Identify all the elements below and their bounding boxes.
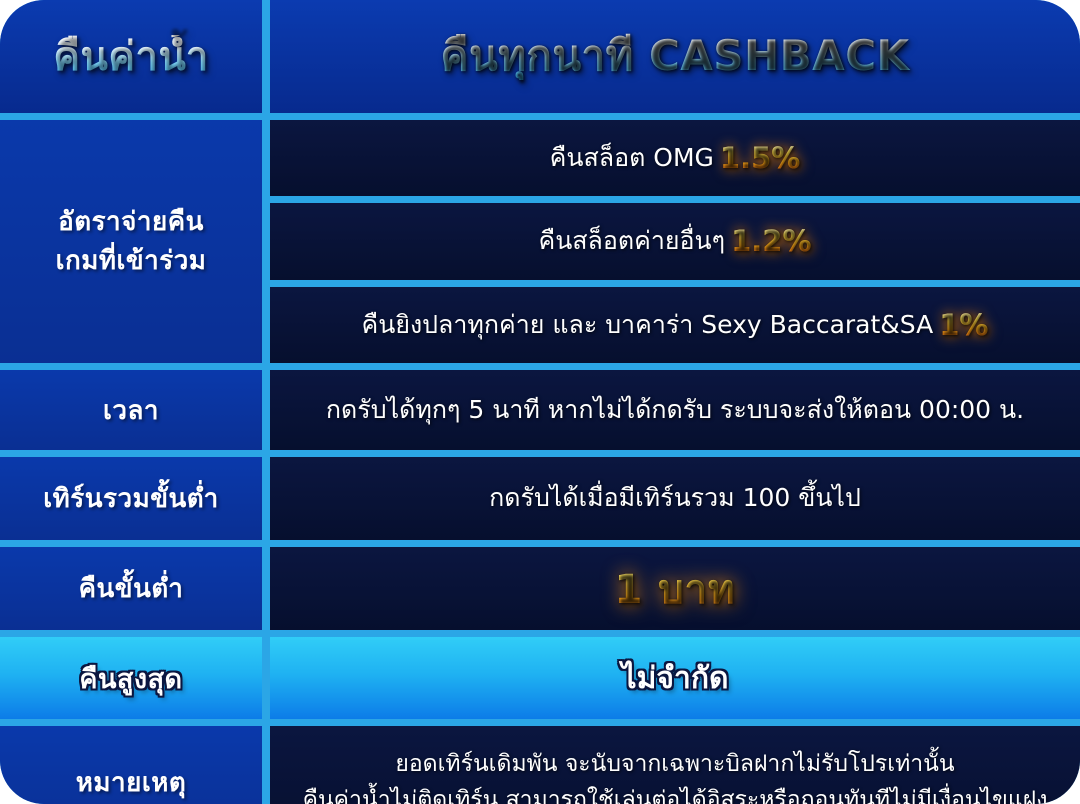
table-row-time: เวลา กดรับได้ทุกๆ 5 นาที หากไม่ได้กดรับ …	[0, 370, 1080, 450]
table-row-min-turnover: เทิร์นรวมขั้นต่ำ กดรับได้เมื่อมีเทิร์นรว…	[0, 457, 1080, 540]
row-label-max-cashback: คืนสูงสุด	[0, 637, 262, 719]
horizontal-divider	[0, 719, 1080, 726]
row-label-rates-line2: เกมที่เข้าร่วม	[56, 246, 207, 276]
row-value-note: ยอดเทิร์นเดิมพัน จะนับจากเฉพาะบิลฝากไม่ร…	[270, 726, 1080, 804]
row-value-min-cashback-text: 1 บาท	[615, 557, 736, 621]
rate-text-fishing-baccarat: คืนยิงปลาทุกค่าย และ บาคาร่า Sexy Baccar…	[362, 305, 934, 345]
rate-sub-rows: คืนสล็อต OMG 1.5% คืนสล็อตค่ายอื่นๆ 1.2%…	[270, 120, 1080, 363]
row-label-rates-line1: อัตราจ่ายคืน	[58, 207, 204, 237]
table-row-min-cashback: คืนขั้นต่ำ 1 บาท	[0, 547, 1080, 630]
table-row-note: หมายเหตุ ยอดเทิร์นเดิมพัน จะนับจากเฉพาะบ…	[0, 726, 1080, 804]
vertical-divider	[262, 0, 270, 113]
rate-value-slot-omg: 1.5%	[720, 141, 800, 175]
rate-sub-row-fishing-baccarat: คืนยิงปลาทุกค่าย และ บาคาร่า Sexy Baccar…	[270, 287, 1080, 363]
row-label-rates: อัตราจ่ายคืน เกมที่เข้าร่วม	[0, 120, 262, 363]
header-right-cell: คืนทุกนาที CASHBACK	[270, 0, 1080, 113]
row-value-time-text: กดรับได้ทุกๆ 5 นาที หากไม่ได้กดรับ ระบบจ…	[312, 392, 1038, 428]
row-label-time-text: เวลา	[103, 390, 159, 431]
row-label-time: เวลา	[0, 370, 262, 450]
row-value-max-cashback-text: ไม่จำกัด	[622, 655, 729, 702]
horizontal-divider	[0, 113, 1080, 120]
note-line-1: ยอดเทิร์นเดิมพัน จะนับจากเฉพาะบิลฝากไม่ร…	[303, 747, 1048, 783]
header-subtitle: คืนทุกนาที CASHBACK	[430, 33, 919, 79]
row-label-min-turnover: เทิร์นรวมขั้นต่ำ	[0, 457, 262, 540]
horizontal-divider	[0, 540, 1080, 547]
horizontal-divider	[0, 630, 1080, 637]
row-value-min-cashback: 1 บาท	[270, 547, 1080, 630]
row-value-max-cashback: ไม่จำกัด	[270, 637, 1080, 719]
rate-text-slot-other: คืนสล็อตค่ายอื่นๆ	[538, 221, 725, 261]
rate-value-fishing-baccarat: 1%	[939, 308, 988, 342]
header-left-cell: คืนค่าน้ำ	[0, 0, 262, 113]
table-header-row: คืนค่าน้ำ คืนทุกนาที CASHBACK	[0, 0, 1080, 113]
row-value-min-turnover: กดรับได้เมื่อมีเทิร์นรวม 100 ขึ้นไป	[270, 457, 1080, 540]
vertical-divider	[262, 120, 270, 363]
rate-sub-row-slot-other: คืนสล็อตค่ายอื่นๆ 1.2%	[270, 203, 1080, 279]
row-label-min-turnover-text: เทิร์นรวมขั้นต่ำ	[43, 478, 219, 519]
row-label-note: หมายเหตุ	[0, 726, 262, 804]
row-label-min-cashback-text: คืนขั้นต่ำ	[79, 568, 184, 609]
vertical-divider	[262, 547, 270, 630]
rate-sub-row-slot-omg: คืนสล็อต OMG 1.5%	[270, 120, 1080, 196]
row-label-note-text: หมายเหตุ	[76, 762, 187, 803]
horizontal-divider	[0, 363, 1080, 370]
row-value-time: กดรับได้ทุกๆ 5 นาที หากไม่ได้กดรับ ระบบจ…	[270, 370, 1080, 450]
page-title: คืนค่าน้ำ	[43, 35, 219, 79]
horizontal-divider	[0, 450, 1080, 457]
vertical-divider	[262, 637, 270, 719]
vertical-divider	[262, 457, 270, 540]
cashback-promo-table: คืนค่าน้ำ คืนทุกนาที CASHBACK อัตราจ่ายค…	[0, 0, 1080, 804]
row-value-min-turnover-text: กดรับได้เมื่อมีเทิร์นรวม 100 ขึ้นไป	[475, 480, 875, 516]
row-label-max-cashback-text: คืนสูงสุด	[79, 657, 182, 700]
table-row-max-cashback: คืนสูงสุด ไม่จำกัด	[0, 637, 1080, 719]
row-label-min-cashback: คืนขั้นต่ำ	[0, 547, 262, 630]
horizontal-divider	[270, 280, 1080, 287]
rate-value-slot-other: 1.2%	[731, 224, 811, 258]
vertical-divider	[262, 726, 270, 804]
horizontal-divider	[270, 196, 1080, 203]
table-row-rates: อัตราจ่ายคืน เกมที่เข้าร่วม คืนสล็อต OMG…	[0, 120, 1080, 363]
vertical-divider	[262, 370, 270, 450]
rate-text-slot-omg: คืนสล็อต OMG	[550, 138, 714, 178]
note-line-2: คืนค่าน้ำไม่ติดเทิร์น สามารถใช้เล่นต่อได…	[303, 783, 1048, 804]
